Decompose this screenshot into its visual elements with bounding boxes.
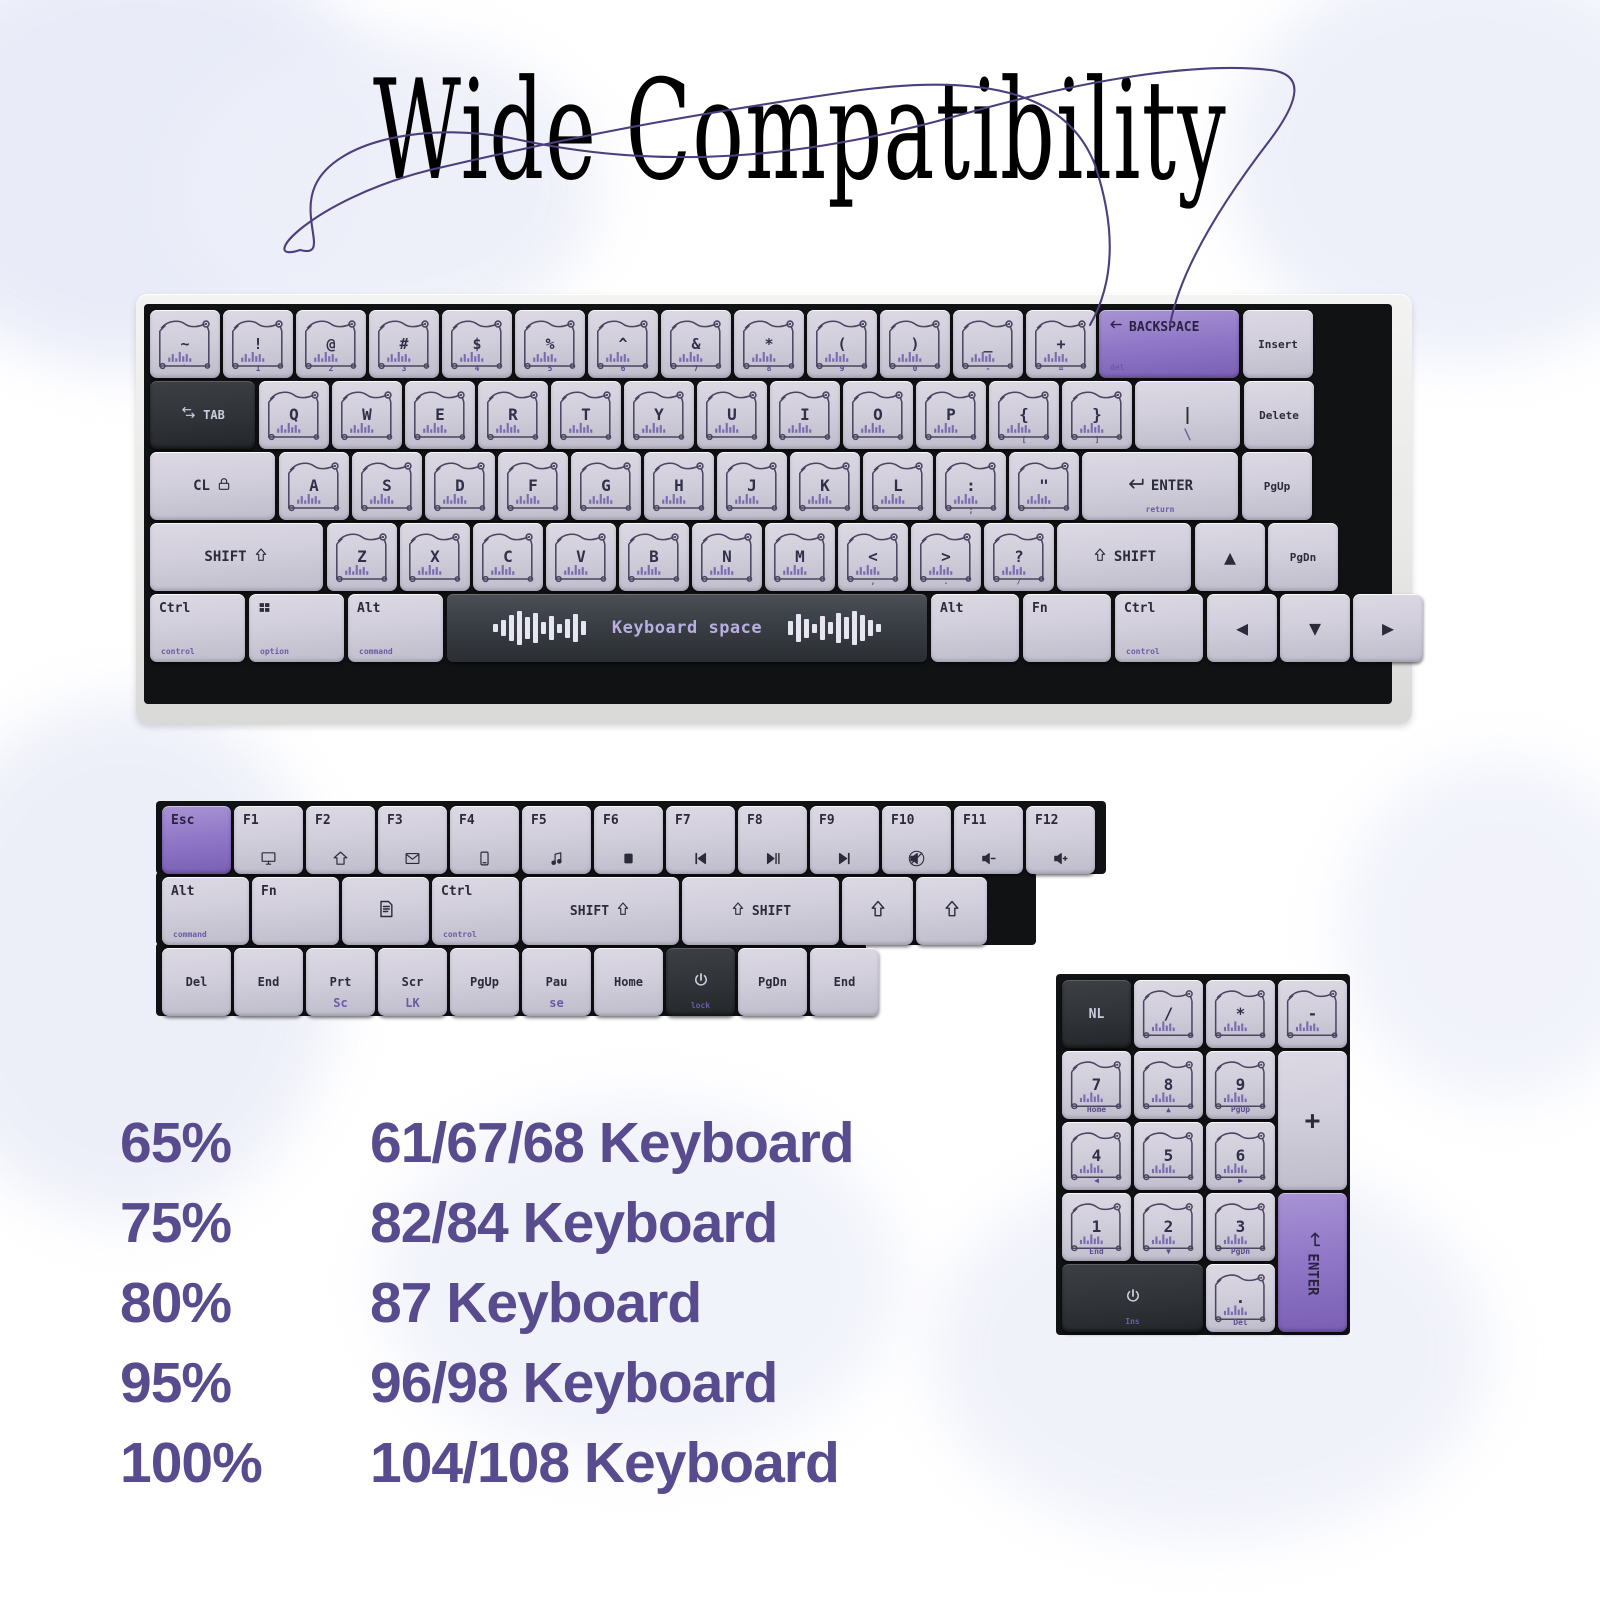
enter-arrow-icon xyxy=(1302,1230,1324,1247)
key-numpad-0[interactable]: Ins xyxy=(1062,1264,1203,1332)
key-label: 5 xyxy=(1164,1148,1174,1164)
key-sublabel: ▲ xyxy=(1134,1105,1203,1114)
compat-percent: 100% xyxy=(120,1430,370,1496)
key-label: 2 xyxy=(1164,1219,1174,1235)
title-block: Wide Compatibility xyxy=(0,56,1600,256)
list-item: 75% 82/84 Keyboard xyxy=(120,1190,854,1256)
compat-percent: 95% xyxy=(120,1350,370,1416)
list-item: 65% 61/67/68 Keyboard xyxy=(120,1110,854,1176)
key-numpad--[interactable]: - xyxy=(1278,980,1347,1048)
key-numpad-1[interactable]: 1End xyxy=(1062,1193,1131,1261)
key-numpad-*[interactable]: * xyxy=(1206,980,1275,1048)
key-sublabel: Del xyxy=(1206,1318,1275,1327)
key-numpad-5[interactable]: 5 xyxy=(1134,1122,1203,1190)
compat-name: 104/108 Keyboard xyxy=(370,1430,839,1496)
key-numpad-4[interactable]: 4◀ xyxy=(1062,1122,1131,1190)
key-sublabel: ▶ xyxy=(1206,1176,1275,1185)
key-label: ENTER xyxy=(1305,1253,1321,1295)
key-sublabel: ◀ xyxy=(1062,1176,1131,1185)
compat-name: 96/98 Keyboard xyxy=(370,1350,777,1416)
key-numpad-.[interactable]: .Del xyxy=(1206,1264,1275,1332)
key-sublabel: PgDn xyxy=(1206,1247,1275,1256)
key-numpad-2[interactable]: 2▼ xyxy=(1134,1193,1203,1261)
key-sublabel: Home xyxy=(1062,1105,1131,1114)
compat-percent: 80% xyxy=(120,1270,370,1336)
power-icon xyxy=(1124,1287,1142,1310)
compat-percent: 65% xyxy=(120,1110,370,1176)
compat-name: 61/67/68 Keyboard xyxy=(370,1110,854,1176)
key-numpad-nl[interactable]: NL xyxy=(1062,980,1131,1048)
key-numpad-8[interactable]: 8▲ xyxy=(1134,1051,1203,1119)
key-label: . xyxy=(1236,1290,1246,1306)
page-title: Wide Compatibility xyxy=(304,56,1296,206)
key-numpad-3[interactable]: 3PgDn xyxy=(1206,1193,1275,1261)
compat-name: 87 Keyboard xyxy=(370,1270,701,1336)
key-numpad-6[interactable]: 6▶ xyxy=(1206,1122,1275,1190)
list-item: 80% 87 Keyboard xyxy=(120,1270,854,1336)
key-numpad-7[interactable]: 7Home xyxy=(1062,1051,1131,1119)
list-item: 100% 104/108 Keyboard xyxy=(120,1430,854,1496)
key-label: 7 xyxy=(1092,1077,1102,1093)
key-numpad-+[interactable]: + xyxy=(1278,1051,1347,1190)
key-label: 6 xyxy=(1236,1148,1246,1164)
key-label: 8 xyxy=(1164,1077,1174,1093)
key-label: + xyxy=(1305,1106,1321,1136)
key-label: * xyxy=(1236,1006,1246,1022)
key-label: / xyxy=(1164,1006,1174,1022)
key-label: 1 xyxy=(1092,1219,1102,1235)
key-numpad-/[interactable]: / xyxy=(1134,980,1203,1048)
key-sublabel: End xyxy=(1062,1247,1131,1256)
compatibility-list: 65% 61/67/68 Keyboard 75% 82/84 Keyboard… xyxy=(120,1110,854,1510)
key-label: 9 xyxy=(1236,1077,1246,1093)
key-sublabel: ▼ xyxy=(1134,1247,1203,1256)
compat-name: 82/84 Keyboard xyxy=(370,1190,777,1256)
key-sublabel: Ins xyxy=(1062,1317,1203,1326)
key-sublabel: PgUp xyxy=(1206,1105,1275,1114)
key-label: 3 xyxy=(1236,1219,1246,1235)
list-item: 95% 96/98 Keyboard xyxy=(120,1350,854,1416)
compat-percent: 75% xyxy=(120,1190,370,1256)
key-label: NL xyxy=(1089,1007,1105,1022)
key-label: - xyxy=(1308,1006,1318,1022)
key-label: 4 xyxy=(1092,1148,1102,1164)
key-numpad-enter[interactable]: ENTER xyxy=(1278,1193,1347,1332)
key-numpad-9[interactable]: 9PgUp xyxy=(1206,1051,1275,1119)
